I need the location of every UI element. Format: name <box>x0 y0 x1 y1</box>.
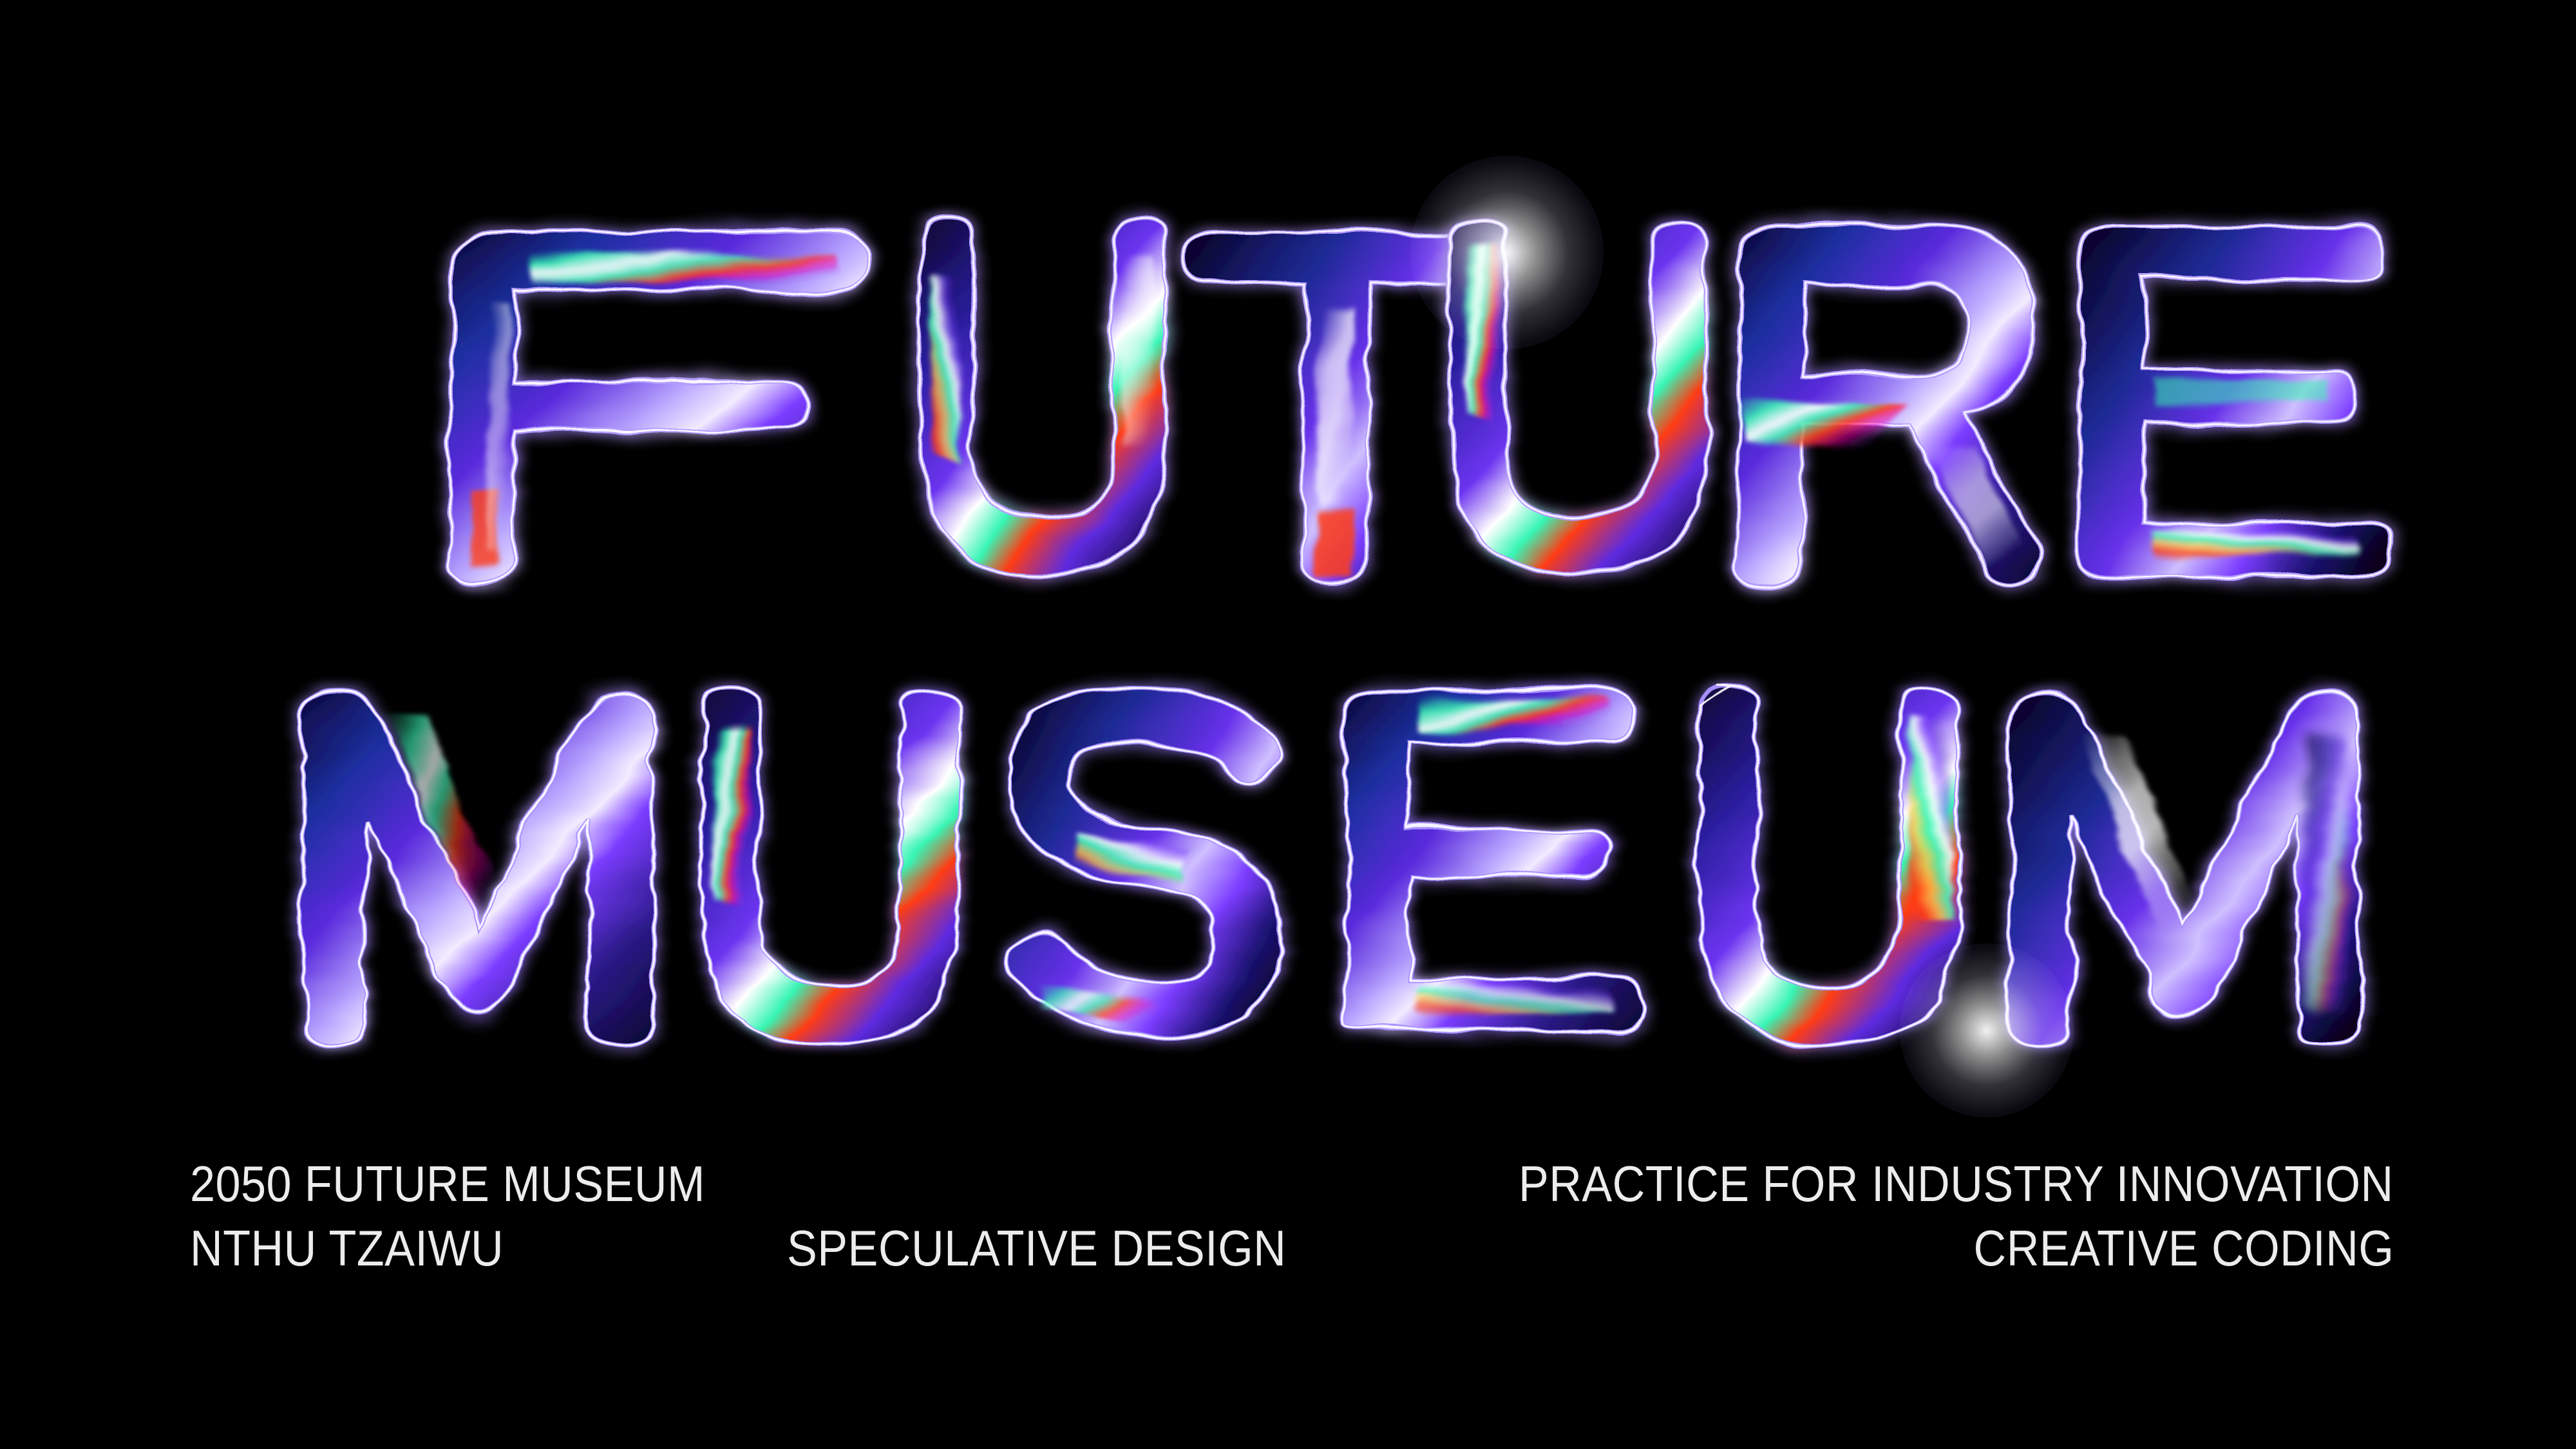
glow-future-u2 <box>1410 156 1604 349</box>
hero-line-future <box>451 219 2391 587</box>
poster-canvas: 2050 FUTURE MUSEUM PRACTICE FOR INDUSTRY… <box>0 0 2576 1449</box>
caption-block: 2050 FUTURE MUSEUM PRACTICE FOR INDUSTRY… <box>0 1153 2576 1346</box>
glyph-R <box>1739 225 2042 587</box>
caption-left-bottom: NTHU TZAIWU <box>190 1217 504 1279</box>
glyph-T <box>1185 232 1488 580</box>
caption-mid-bottom: SPECULATIVE DESIGN <box>787 1217 1286 1279</box>
glyph-E-2 <box>1346 690 1643 1030</box>
hero-typography-artwork <box>0 0 2576 1133</box>
glyph-F <box>451 232 866 583</box>
caption-left-top: 2050 FUTURE MUSEUM <box>190 1153 705 1215</box>
caption-row-top: 2050 FUTURE MUSEUM PRACTICE FOR INDUSTRY… <box>0 1153 2576 1215</box>
glow-museum-u2 <box>1900 943 2074 1117</box>
glyph-U-3 <box>702 688 957 1046</box>
caption-right-top: PRACTICE FOR INDUSTRY INNOVATION <box>1519 1153 2394 1215</box>
glyph-U-4 <box>1700 688 1958 1046</box>
glyph-M-2 <box>2009 692 2360 1046</box>
caption-right-bottom: CREATIVE CODING <box>1973 1217 2394 1279</box>
chromatic-fringe-overlay <box>390 219 392 220</box>
liquid-chrome-type-svg <box>0 0 2576 1133</box>
hero-line-museum <box>303 688 2360 1046</box>
glyph-U-2 <box>1452 219 1707 573</box>
glyph-E <box>2080 225 2391 577</box>
glyph-U-1 <box>921 219 1166 573</box>
caption-row-bottom: NTHU TZAIWU SPECULATIVE DESIGN CREATIVE … <box>0 1217 2576 1279</box>
glyph-S <box>1009 688 1282 1038</box>
glyph-M-1 <box>303 692 653 1046</box>
